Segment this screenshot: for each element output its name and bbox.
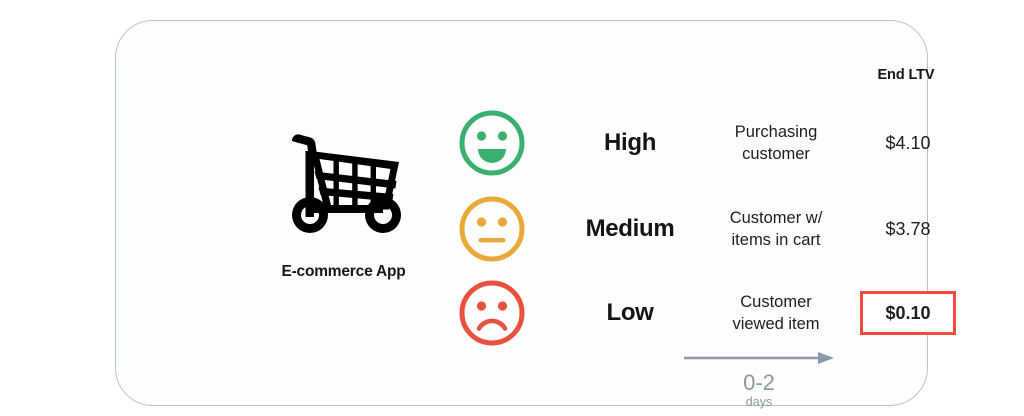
right-arrow-icon	[684, 351, 834, 365]
ltv-amount-medium: $3.78	[885, 219, 930, 240]
tier-description-high-line1: Purchasing	[735, 123, 818, 141]
tier-description-low: Customer viewed item	[696, 277, 856, 349]
happy-face-icon	[456, 107, 528, 179]
tier-description-low-line2: viewed item	[732, 315, 819, 333]
timeline-range: 0-2	[684, 371, 834, 394]
ltv-value-low: $0.10	[848, 277, 968, 349]
tier-description-low-line1: Customer	[740, 293, 812, 311]
ltv-highlight-box: $0.10	[860, 291, 956, 335]
tier-row-low: Low Customer viewed item $0.10	[456, 277, 976, 349]
ltv-value-medium: $3.78	[848, 193, 968, 265]
ltv-amount-high: $4.10	[885, 133, 930, 154]
tier-description-medium: Customer w/ items in cart	[696, 193, 856, 265]
timeline-unit: days	[684, 395, 834, 409]
tier-description-medium-line1: Customer w/	[730, 209, 823, 227]
tier-row-high: High Purchasing customer $4.10	[456, 107, 976, 179]
tier-label-high: High	[566, 107, 694, 179]
app-block: E-commerce App	[266, 133, 421, 281]
tier-label-medium: Medium	[566, 193, 694, 265]
diagram-canvas: E-commerce App End LTV High Purchasing c…	[0, 0, 1024, 416]
sad-face-icon	[456, 277, 528, 349]
neutral-face-icon	[456, 193, 528, 265]
end-ltv-column-header: End LTV	[846, 67, 966, 83]
ltv-summary-card: E-commerce App End LTV High Purchasing c…	[115, 20, 928, 406]
shopping-cart-icon	[286, 133, 402, 241]
timeline-caption: 0-2 days	[684, 371, 834, 409]
app-label: E-commerce App	[266, 263, 421, 281]
ltv-amount-low: $0.10	[885, 303, 930, 324]
tier-description-high: Purchasing customer	[696, 107, 856, 179]
tier-row-medium: Medium Customer w/ items in cart $3.78	[456, 193, 976, 265]
tier-description-medium-line2: items in cart	[732, 231, 821, 249]
ltv-value-high: $4.10	[848, 107, 968, 179]
tier-description-high-line2: customer	[742, 145, 810, 163]
tier-label-low: Low	[566, 277, 694, 349]
